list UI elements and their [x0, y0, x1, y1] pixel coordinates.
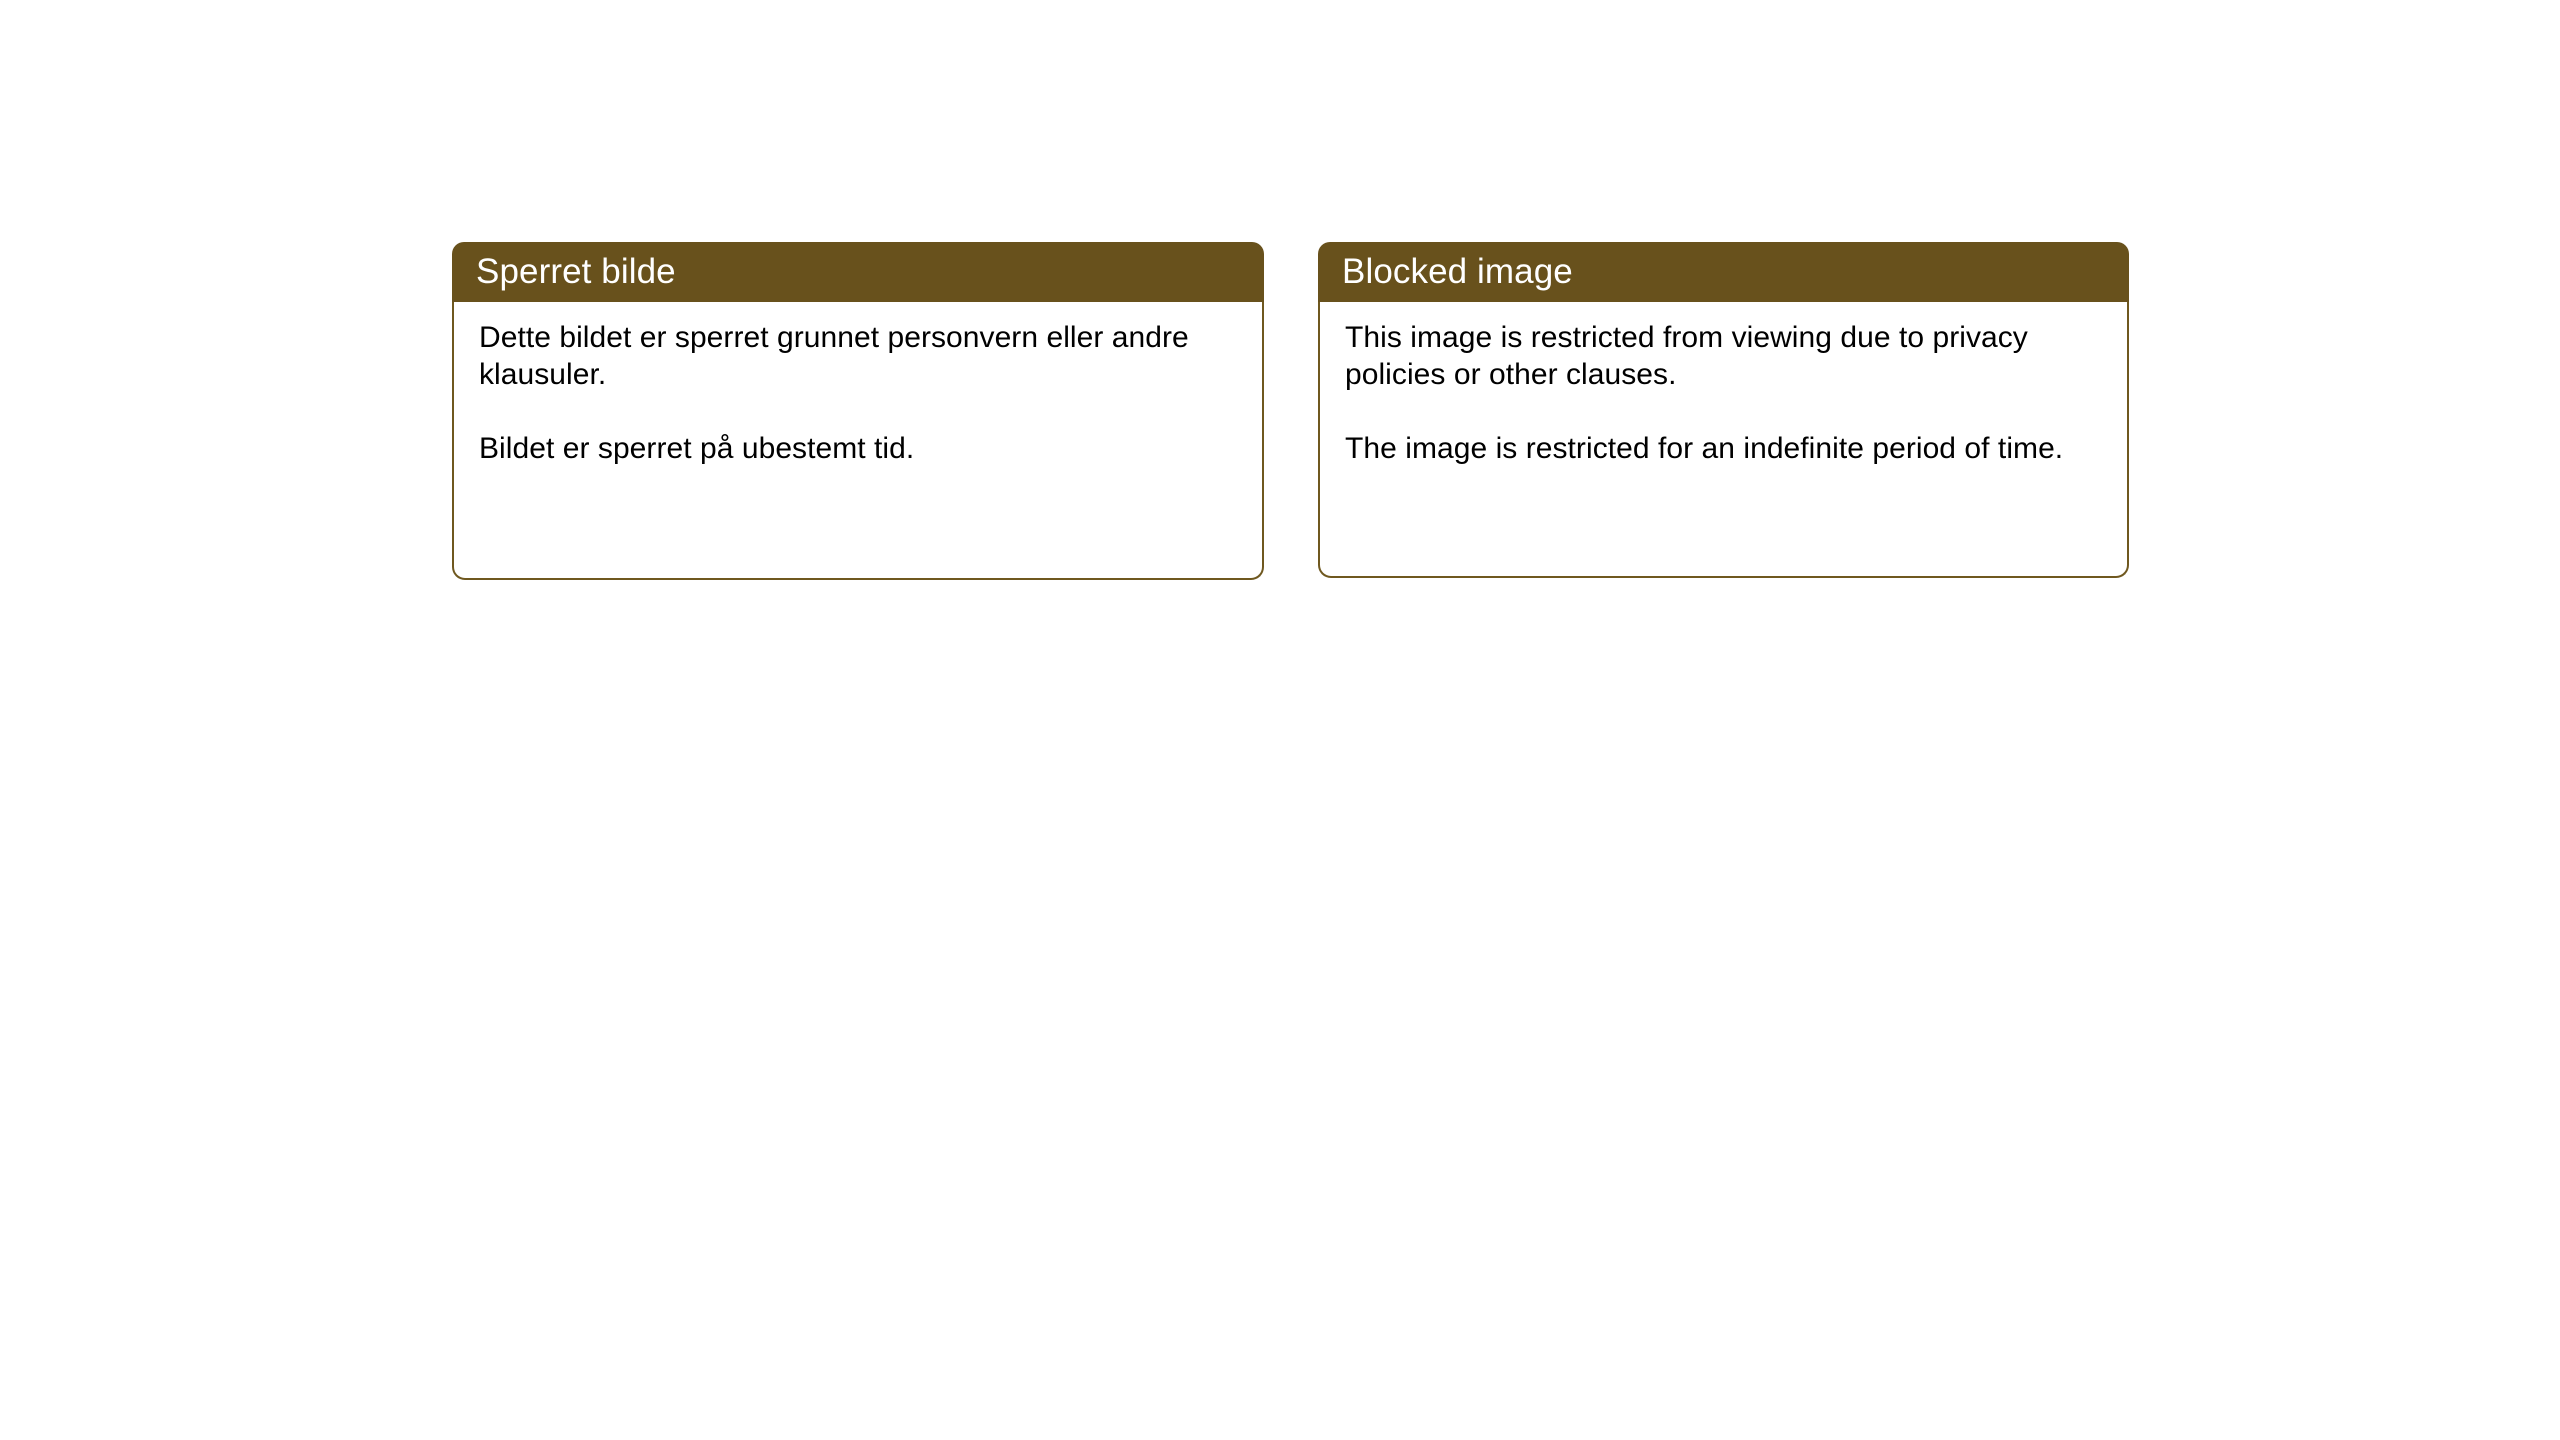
notice-title-english: Blocked image — [1342, 252, 1573, 292]
notice-header-norwegian: Sperret bilde — [452, 242, 1264, 302]
notice-body-norwegian: Dette bildet er sperret grunnet personve… — [452, 302, 1264, 580]
notice-paragraph-duration-english: The image is restricted for an indefinit… — [1345, 430, 2103, 467]
blocked-image-notice-norwegian: Sperret bilde Dette bildet er sperret gr… — [452, 242, 1264, 580]
notice-paragraph-reason-norwegian: Dette bildet er sperret grunnet personve… — [479, 319, 1238, 393]
notice-paragraph-duration-norwegian: Bildet er sperret på ubestemt tid. — [479, 430, 1238, 467]
page-canvas: Sperret bilde Dette bildet er sperret gr… — [0, 0, 2560, 1440]
notice-body-english: This image is restricted from viewing du… — [1318, 302, 2129, 578]
notice-paragraph-reason-english: This image is restricted from viewing du… — [1345, 319, 2103, 393]
notice-title-norwegian: Sperret bilde — [476, 252, 676, 292]
blocked-image-notice-english: Blocked image This image is restricted f… — [1318, 242, 2129, 578]
notice-header-english: Blocked image — [1318, 242, 2129, 302]
